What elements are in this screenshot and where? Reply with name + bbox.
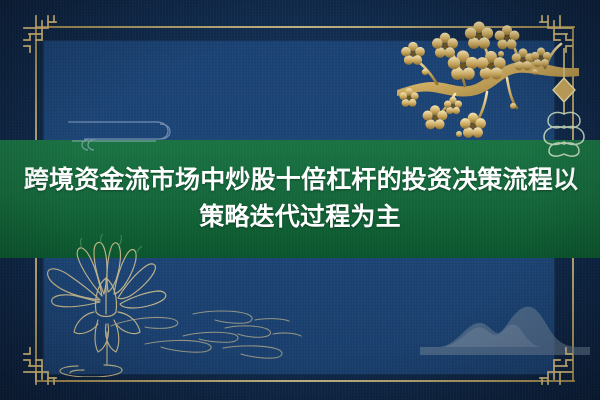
banner-image: 跨境资金流市场中炒股十倍杠杆的投资决策流程以 策略迭代过程为主: [0, 0, 600, 400]
vignette-overlay: [0, 0, 600, 400]
